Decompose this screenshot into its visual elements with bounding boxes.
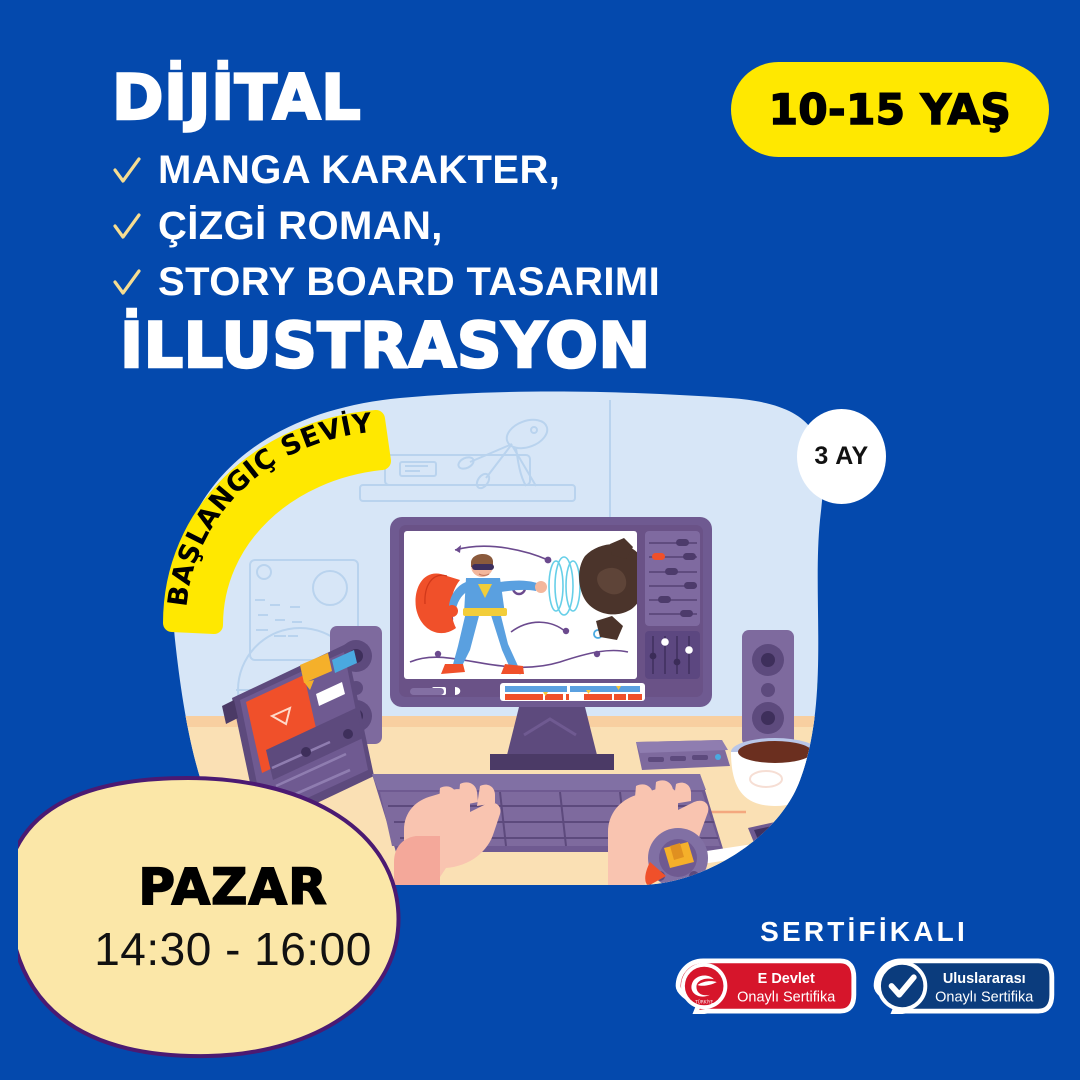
bullet-label: ÇİZGİ ROMAN,: [158, 204, 443, 249]
badge-international: Uluslararası Onaylı Sertifika: [869, 958, 1057, 1014]
list-item: MANGA KARAKTER,: [112, 145, 812, 197]
poster-canvas: DİJİTAL MANGA KARAKTER, ÇİZGİ ROMAN, STO…: [0, 0, 1080, 1080]
schedule-day: PAZAR: [138, 858, 327, 916]
check-icon: [112, 210, 142, 244]
schedule-time: 14:30 - 16:00: [94, 922, 372, 976]
duration-badge: 3 AY: [797, 409, 886, 504]
schedule-text: PAZAR 14:30 - 16:00: [18, 772, 438, 1062]
certificate-block: SERTİFİKALI TÜRKİYE E Devlet Onaylı Sert…: [666, 916, 1062, 1014]
badge-line2: Onaylı Sertifika: [737, 989, 836, 1005]
headline-bullet-list: MANGA KARAKTER, ÇİZGİ ROMAN, STORY BOARD…: [112, 145, 812, 309]
schedule-block: PAZAR 14:30 - 16:00: [18, 772, 438, 1062]
headline-block: DİJİTAL MANGA KARAKTER, ÇİZGİ ROMAN, STO…: [112, 68, 812, 377]
speaker-right: [742, 630, 794, 746]
headline-kicker: DİJİTAL: [112, 68, 812, 129]
potted-plant: [817, 580, 905, 814]
check-icon: [112, 266, 142, 300]
list-item: STORY BOARD TASARIMI: [112, 257, 812, 309]
badge-edevlet: TÜRKİYE E Devlet Onaylı Sertifika: [671, 958, 859, 1014]
router-device: [636, 740, 730, 770]
badge-line2: Onaylı Sertifika: [935, 989, 1034, 1005]
duration-badge-label: 3 AY: [814, 442, 868, 471]
headline-subhead: İLLUSTRASYON: [120, 315, 812, 377]
list-item: ÇİZGİ ROMAN,: [112, 201, 812, 253]
bullet-label: MANGA KARAKTER,: [158, 148, 560, 193]
badge-line1: Uluslararası: [943, 971, 1026, 987]
check-icon: [112, 154, 142, 188]
coffee-cup: [731, 738, 834, 806]
badge-line1: E Devlet: [758, 971, 815, 987]
age-badge: 10-15 YAŞ: [731, 62, 1049, 157]
edevlet-logo-caption: TÜRKİYE: [694, 998, 713, 1004]
certificate-title: SERTİFİKALI: [666, 916, 1062, 948]
certificate-badge-list: TÜRKİYE E Devlet Onaylı Sertifika Ulusla…: [666, 958, 1062, 1014]
bullet-label: STORY BOARD TASARIMI: [158, 260, 660, 305]
age-badge-label: 10-15 YAŞ: [769, 85, 1012, 134]
level-ribbon: BAŞLANGIÇ SEVİYESİ: [140, 385, 500, 635]
